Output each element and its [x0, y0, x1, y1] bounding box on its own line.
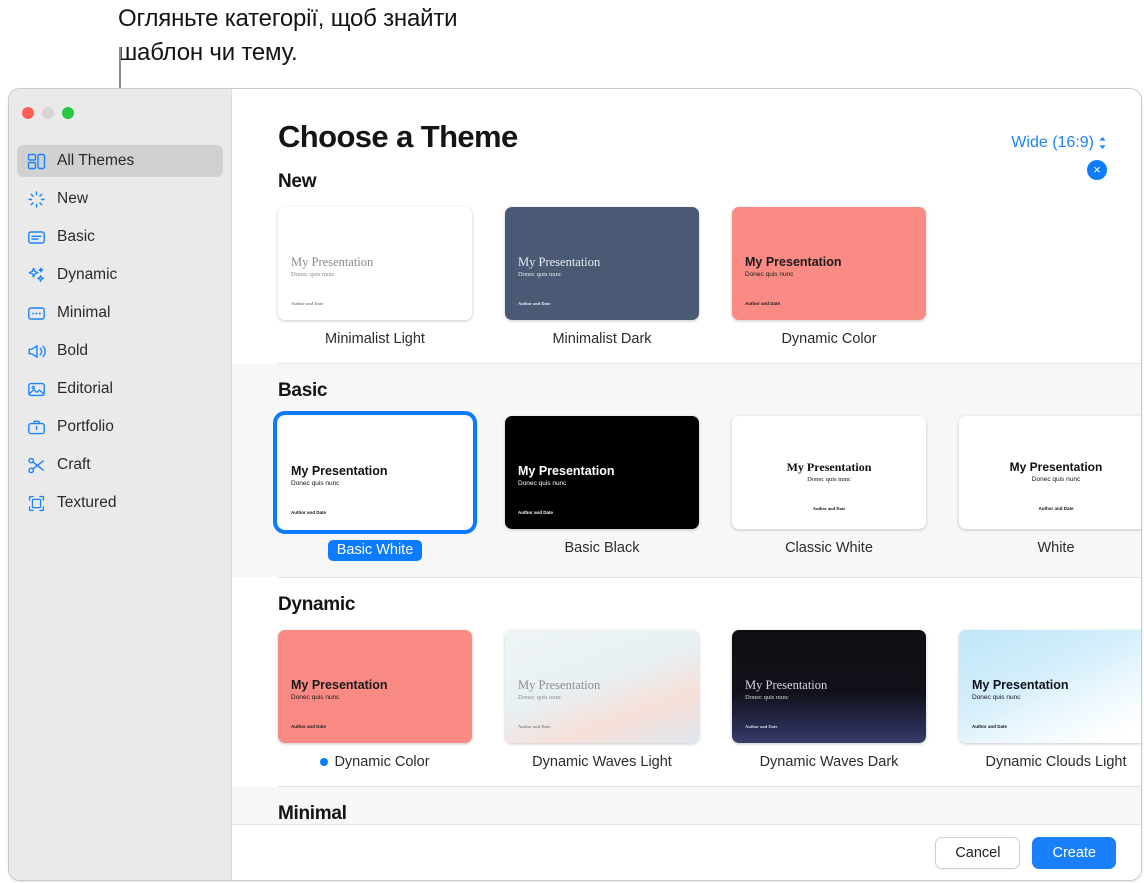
theme-section-basic: BasicMy PresentationDonec quis nuncAutho…: [232, 364, 1141, 577]
window-traffic-lights: [9, 97, 231, 135]
theme-row: My PresentationDonec quis nuncAuthor and…: [278, 193, 1141, 363]
theme-caption: Dynamic Color: [732, 320, 926, 347]
theme-cell[interactable]: My PresentationDonec quis nuncAuthor and…: [959, 630, 1141, 770]
theme-caption: Basic White: [278, 529, 472, 561]
briefcase-icon: [27, 418, 46, 437]
sidebar-item-basic[interactable]: Basic: [17, 221, 223, 253]
theme-section-dynamic: DynamicMy PresentationDonec quis nuncAut…: [232, 578, 1141, 786]
sidebar-item-portfolio[interactable]: Portfolio: [17, 411, 223, 443]
sidebar-item-all-themes[interactable]: All Themes: [17, 145, 223, 177]
sidebar-item-dynamic[interactable]: Dynamic: [17, 259, 223, 291]
theme-thumbnail[interactable]: My PresentationDonec quis nuncAuthor and…: [278, 207, 472, 320]
thumbnail-subtitle: Donec quis nunc: [291, 480, 339, 487]
section-title: Dynamic: [278, 578, 1141, 616]
sidebar-item-label: Minimal: [57, 304, 110, 322]
main-pane: Choose a Theme Wide (16:9) New×My Presen…: [232, 89, 1141, 880]
theme-name-label: Basic White: [328, 540, 423, 561]
sidebar: All ThemesNewBasicDynamicMinimalBoldEdit…: [9, 89, 232, 880]
section-title: New: [278, 155, 1141, 193]
thumbnail-author: Author and Date: [291, 724, 326, 729]
photo-icon: [27, 380, 46, 399]
thumbnail-subtitle: Donec quis nunc: [291, 694, 339, 701]
scissors-icon: [27, 456, 46, 475]
minimize-window-button[interactable]: [42, 107, 54, 119]
theme-thumbnail[interactable]: My PresentationDonec quis nuncAuthor and…: [278, 630, 472, 743]
sidebar-item-label: Portfolio: [57, 418, 114, 436]
theme-caption: Classic White: [732, 529, 926, 556]
dismiss-new-section-icon[interactable]: ×: [1087, 160, 1107, 180]
close-window-button[interactable]: [22, 107, 34, 119]
theme-caption: Dynamic Waves Light: [505, 743, 699, 770]
thumbnail-author: Author and Date: [959, 506, 1141, 511]
sidebar-item-label: All Themes: [57, 152, 134, 170]
theme-scroll-area[interactable]: New×My PresentationDonec quis nuncAuthor…: [232, 155, 1141, 824]
thumbnail-title: My Presentation: [745, 255, 842, 269]
thumbnail-author: Author and Date: [291, 510, 326, 515]
thumbnail-title: My Presentation: [972, 678, 1069, 692]
theme-name-label: Minimalist Light: [325, 331, 425, 347]
theme-row: My PresentationDonec quis nuncAuthor and…: [278, 402, 1141, 577]
sidebar-item-label: Dynamic: [57, 266, 117, 284]
cancel-button[interactable]: Cancel: [935, 837, 1020, 869]
theme-caption: Dynamic Color: [278, 743, 472, 770]
thumbnail-author: Author and Date: [732, 506, 926, 511]
megaphone-icon: [27, 342, 46, 361]
theme-caption: Dynamic Clouds Light: [959, 743, 1141, 770]
theme-thumbnail[interactable]: My PresentationDonec quis nuncAuthor and…: [732, 416, 926, 529]
thumbnail-subtitle: Donec quis nunc: [732, 476, 926, 483]
sidebar-item-label: Craft: [57, 456, 91, 474]
thumbnail-author: Author and Date: [518, 510, 553, 515]
theme-name-label: Minimalist Dark: [552, 331, 651, 347]
section-title: Minimal: [278, 787, 1141, 824]
theme-caption: Dynamic Waves Dark: [732, 743, 926, 770]
theme-caption: Basic Black: [505, 529, 699, 556]
theme-name-label: Dynamic Clouds Light: [985, 754, 1126, 770]
basic-slide-icon: [27, 228, 46, 247]
theme-caption: Minimalist Light: [278, 320, 472, 347]
thumbnail-author: Author and Date: [972, 724, 1007, 729]
theme-section-minimal: Minimal: [232, 787, 1141, 824]
crop-frame-icon: [27, 494, 46, 513]
thumbnail-author: Author and Date: [745, 301, 780, 306]
sidebar-item-label: Basic: [57, 228, 95, 246]
thumbnail-subtitle: Donec quis nunc: [972, 694, 1020, 701]
thumbnail-title: My Presentation: [518, 678, 600, 693]
thumbnail-title: My Presentation: [518, 464, 615, 478]
dialog-footer: Cancel Create: [232, 824, 1141, 880]
sparkle-burst-icon: [27, 190, 46, 209]
zoom-window-button[interactable]: [62, 107, 74, 119]
theme-caption: Minimalist Dark: [505, 320, 699, 347]
theme-cell[interactable]: My PresentationDonec quis nuncAuthor and…: [732, 630, 926, 770]
thumbnail-title: My Presentation: [745, 678, 827, 693]
theme-cell[interactable]: My PresentationDonec quis nuncAuthor and…: [732, 207, 926, 347]
thumbnail-subtitle: Donec quis nunc: [745, 694, 789, 701]
theme-thumbnail[interactable]: My PresentationDonec quis nuncAuthor and…: [732, 207, 926, 320]
sidebar-item-bold[interactable]: Bold: [17, 335, 223, 367]
theme-caption: White: [959, 529, 1141, 556]
thumbnail-title: My Presentation: [518, 255, 600, 270]
sidebar-item-textured[interactable]: Textured: [17, 487, 223, 519]
thumbnail-title: My Presentation: [291, 678, 388, 692]
sidebar-category-list: All ThemesNewBasicDynamicMinimalBoldEdit…: [9, 145, 231, 519]
thumbnail-title: My Presentation: [959, 460, 1141, 474]
callout-text: Огляньте категорії, щоб знайти шаблон чи…: [118, 2, 538, 70]
thumbnail-subtitle: Donec quis nunc: [959, 476, 1141, 483]
thumbnail-subtitle: Donec quis nunc: [291, 271, 335, 278]
sidebar-item-label: Bold: [57, 342, 88, 360]
aspect-ratio-selector[interactable]: Wide (16:9): [1011, 134, 1107, 152]
theme-name-label: Dynamic Color: [781, 331, 876, 347]
theme-thumbnail[interactable]: My PresentationDonec quis nuncAuthor and…: [505, 207, 699, 320]
theme-name-label: White: [1037, 540, 1074, 556]
theme-name-label: Dynamic Waves Light: [532, 754, 672, 770]
thumbnail-author: Author and Date: [291, 301, 323, 306]
theme-cell[interactable]: My PresentationDonec quis nuncAuthor and…: [505, 630, 699, 770]
thumbnail-title: My Presentation: [291, 255, 373, 270]
page-title: Choose a Theme: [278, 119, 518, 155]
theme-name-label: Dynamic Waves Dark: [760, 754, 899, 770]
sidebar-item-minimal[interactable]: Minimal: [17, 297, 223, 329]
sidebar-item-editorial[interactable]: Editorial: [17, 373, 223, 405]
aspect-ratio-value: Wide (16:9): [1011, 134, 1094, 152]
minimal-dots-icon: [27, 304, 46, 323]
theme-name-label: Dynamic Color: [334, 754, 429, 770]
section-title: Basic: [278, 364, 1141, 402]
chevron-updown-icon: [1098, 136, 1107, 150]
theme-name-label: Basic Black: [565, 540, 640, 556]
theme-thumbnail[interactable]: My PresentationDonec quis nuncAuthor and…: [505, 630, 699, 743]
theme-cell[interactable]: My PresentationDonec quis nuncAuthor and…: [732, 416, 926, 561]
main-header: Choose a Theme Wide (16:9): [232, 89, 1141, 155]
theme-cell[interactable]: My PresentationDonec quis nuncAuthor and…: [959, 416, 1141, 561]
theme-name-label: Classic White: [785, 540, 873, 556]
thumbnail-author: Author and Date: [518, 301, 550, 306]
thumbnail-subtitle: Donec quis nunc: [745, 271, 793, 278]
theme-section-new: New×My PresentationDonec quis nuncAuthor…: [232, 155, 1141, 363]
thumbnail-subtitle: Donec quis nunc: [518, 480, 566, 487]
sidebar-item-label: Editorial: [57, 380, 113, 398]
choose-theme-window: All ThemesNewBasicDynamicMinimalBoldEdit…: [8, 88, 1142, 881]
theme-cell[interactable]: My PresentationDonec quis nuncAuthor and…: [278, 630, 472, 770]
sidebar-item-label: New: [57, 190, 88, 208]
thumbnail-subtitle: Donec quis nunc: [518, 694, 562, 701]
thumbnail-author: Author and Date: [518, 724, 550, 729]
thumbnail-title: My Presentation: [291, 464, 388, 478]
thumbnail-author: Author and Date: [745, 724, 777, 729]
theme-cell[interactable]: My PresentationDonec quis nuncAuthor and…: [505, 207, 699, 347]
theme-thumbnail[interactable]: My PresentationDonec quis nuncAuthor and…: [505, 416, 699, 529]
sidebar-item-new[interactable]: New: [17, 183, 223, 215]
current-theme-dot-icon: [320, 758, 328, 766]
thumbnail-subtitle: Donec quis nunc: [518, 271, 562, 278]
sparkles-icon: [27, 266, 46, 285]
theme-thumbnail[interactable]: My PresentationDonec quis nuncAuthor and…: [959, 630, 1141, 743]
thumbnail-title: My Presentation: [732, 460, 926, 475]
all-themes-icon: [27, 152, 46, 171]
create-button[interactable]: Create: [1032, 837, 1116, 869]
theme-row: My PresentationDonec quis nuncAuthor and…: [278, 616, 1141, 786]
theme-thumbnail[interactable]: My PresentationDonec quis nuncAuthor and…: [278, 416, 472, 529]
theme-cell[interactable]: My PresentationDonec quis nuncAuthor and…: [278, 207, 472, 347]
theme-cell[interactable]: My PresentationDonec quis nuncAuthor and…: [505, 416, 699, 561]
sidebar-item-craft[interactable]: Craft: [17, 449, 223, 481]
theme-thumbnail[interactable]: My PresentationDonec quis nuncAuthor and…: [959, 416, 1141, 529]
theme-thumbnail[interactable]: My PresentationDonec quis nuncAuthor and…: [732, 630, 926, 743]
theme-cell[interactable]: My PresentationDonec quis nuncAuthor and…: [278, 416, 472, 561]
sidebar-item-label: Textured: [57, 494, 116, 512]
